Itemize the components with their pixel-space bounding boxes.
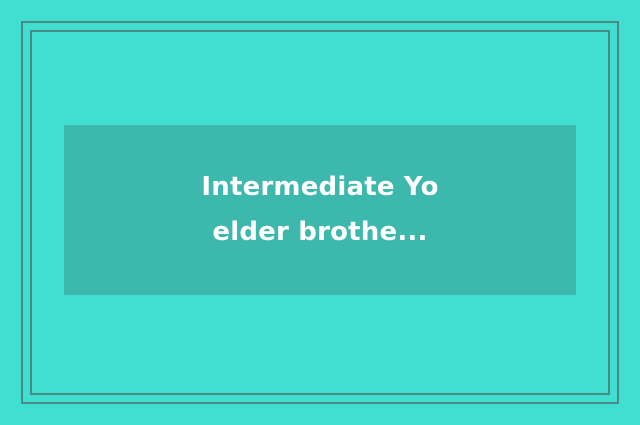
image-canvas: Intermediate Yo elder brothe... bbox=[0, 0, 640, 425]
content-panel: Intermediate Yo elder brothe... bbox=[64, 125, 576, 295]
panel-title: Intermediate Yo elder brothe... bbox=[201, 165, 438, 255]
